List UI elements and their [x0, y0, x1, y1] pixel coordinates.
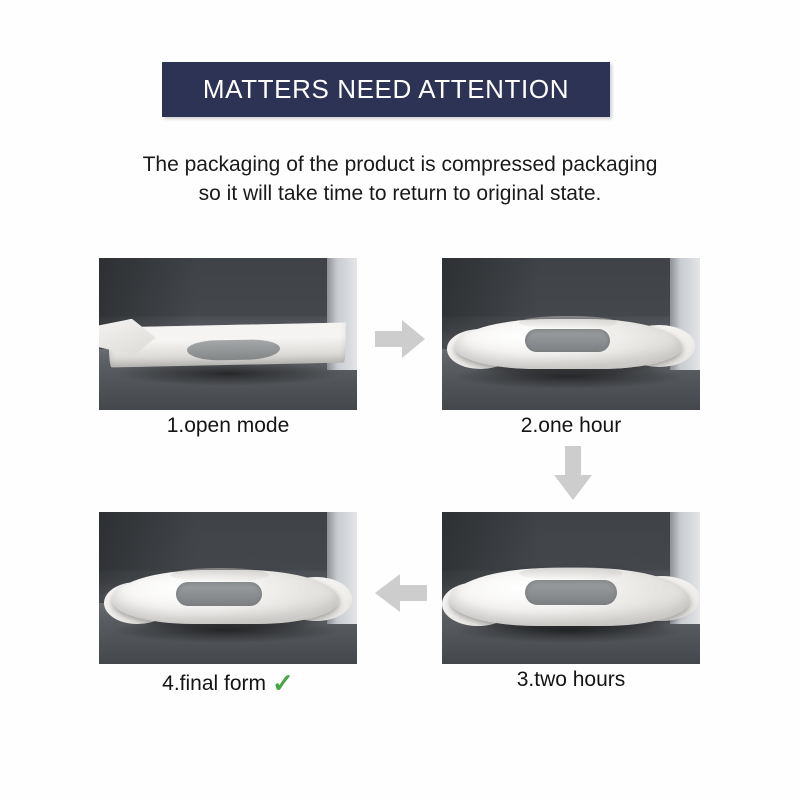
step-3-caption: 3.two hours	[442, 668, 700, 692]
arrow-right-icon	[375, 318, 425, 360]
pillow-center-patch	[525, 329, 610, 352]
step-2-caption-label: 2.one hour	[521, 414, 621, 437]
step-1-caption-label: 1.open mode	[167, 414, 290, 437]
title-banner: MATTERS NEED ATTENTION	[162, 62, 610, 117]
step-4-caption: 4.final form✓	[99, 668, 357, 699]
subtitle-line-1: The packaging of the product is compress…	[0, 150, 800, 179]
step-4-caption-label: 4.final form	[162, 672, 266, 695]
check-icon: ✓	[272, 668, 294, 698]
step-1-caption: 1.open mode	[99, 414, 357, 438]
step-3-photo	[442, 512, 700, 664]
pillow-neck-contour	[171, 568, 269, 582]
pillow-center-patch	[187, 339, 280, 360]
subtitle-text: The packaging of the product is compress…	[0, 150, 800, 208]
step-2-caption: 2.one hour	[442, 414, 700, 438]
pillow-center-patch	[176, 582, 261, 606]
page-title: MATTERS NEED ATTENTION	[203, 74, 569, 105]
step-2-photo	[442, 258, 700, 410]
subtitle-line-2: so it will take time to return to origin…	[0, 179, 800, 208]
pillow-center-patch	[525, 580, 618, 604]
arrow-down-icon	[552, 446, 594, 500]
step-1-photo	[99, 258, 357, 410]
step-3-caption-label: 3.two hours	[517, 668, 626, 691]
arrow-left-icon	[375, 572, 427, 614]
step-4-photo	[99, 512, 357, 664]
